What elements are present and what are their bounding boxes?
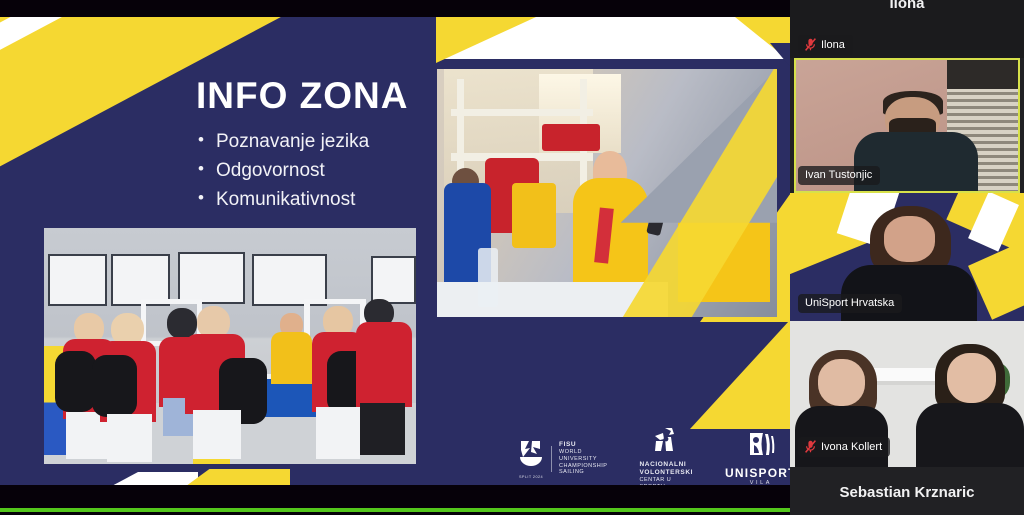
participant-namechip-ivona-kollert: Ivona Kollert [798, 437, 890, 457]
photo-athlete-red [356, 322, 412, 407]
slide-bullet-1: Poznavanje jezika [196, 128, 446, 157]
participant-name-ilona: Ilona [790, 0, 1024, 12]
fisu-mark-caption: SPLIT 2024 [518, 475, 544, 479]
participant-namechip-ilona: Ilona [798, 35, 853, 55]
photo-backpack [92, 355, 137, 416]
volunteer-centre-mark-icon [651, 427, 681, 458]
photo-merch-yellow [512, 183, 556, 247]
slide-bullet-3: Komunikativnost [196, 186, 446, 215]
fisu-line-4: CHAMPIONSHIP [559, 463, 607, 470]
person-head [818, 359, 865, 406]
photo-rack [141, 299, 201, 304]
person-head [947, 353, 996, 403]
share-letterbox-top [0, 0, 790, 17]
unisport-name: UNISPORT [725, 466, 790, 480]
fisu-mark-icon: SPLIT 2024 [518, 438, 544, 479]
photo-shorts [193, 410, 241, 460]
photo-water-bottle [478, 248, 498, 308]
fisu-line-3: UNIVERSITY [559, 456, 607, 463]
namechip-label: UniSport Hrvatska [805, 297, 894, 309]
logo-fisu: SPLIT 2024 FISU WORLD UNIVERSITY CHAMPIO… [518, 438, 607, 479]
unisport-wordmark: UNISPORT VILA [725, 466, 790, 485]
decor-bottom-left-white-triangle [78, 472, 198, 485]
decor-top-yellow-triangle [436, 17, 536, 63]
photo-rack [304, 299, 364, 304]
participant-name-sebastian-krznaric: Sebastian Krznaric [790, 484, 1024, 501]
participant-tile-ivan-tustonjic[interactable]: Ivan Tustonjic [790, 58, 1024, 193]
slide-photo-interview [437, 69, 777, 317]
slide-photo-desk [44, 228, 416, 464]
slide-bullet-list: Poznavanje jezika Odgovornost Komunikati… [196, 128, 446, 215]
photo-volunteer-yellow-1 [573, 178, 648, 297]
fisu-wordmark: FISU WORLD UNIVERSITY CHAMPIONSHIP SAILI… [559, 441, 607, 476]
decor-bottom-right-yellow-triangle [690, 309, 790, 429]
nvc-line-2: VOLONTERSKI [639, 469, 693, 477]
screen-share-indicator-bar [0, 508, 790, 512]
photo-shelf [451, 109, 594, 116]
participant-tile-sebastian-krznaric[interactable]: Sebastian Krznaric [790, 467, 1024, 515]
logo-unisport-vila: UNISPORT VILA [725, 431, 790, 485]
photo-merch-red [542, 124, 600, 151]
fisu-line-2: WORLD [559, 449, 607, 456]
participant-namechip-unisport-hrvatska: UniSport Hrvatska [798, 294, 902, 313]
logo-divider [551, 446, 552, 472]
photo-volunteer-seated [271, 332, 312, 384]
participant-tile-ilona[interactable]: Ilona Ilona [790, 0, 1024, 58]
photo-poster [371, 256, 416, 303]
photo-backpack [55, 351, 96, 412]
photo-shorts [107, 414, 152, 461]
person-torso [916, 403, 1024, 467]
fisu-line-1: FISU [559, 441, 607, 449]
participant-filmstrip[interactable]: Ilona Ilona [790, 0, 1024, 515]
decor-top-right-navy-triangle [770, 43, 790, 69]
nvc-line-1: NACIONALNI [639, 461, 693, 469]
namechip-label: Ivan Tustonjic [805, 169, 872, 181]
namechip-label: Ilona [821, 39, 845, 51]
slide-logo-row: SPLIT 2024 FISU WORLD UNIVERSITY CHAMPIO… [518, 427, 790, 485]
namechip-label: Ivona Kollert [821, 441, 882, 453]
volunteer-centre-wordmark: NACIONALNI VOLONTERSKI CENTAR U SPORTU [639, 461, 693, 485]
unisport-mark-icon [746, 431, 776, 462]
person-head [884, 216, 935, 262]
participant-tile-ivona-kollert[interactable]: Ivona Kollert [790, 321, 1024, 467]
mic-off-icon [805, 440, 816, 453]
photo-shorts [316, 407, 361, 459]
photo-poster [178, 252, 245, 304]
logo-nacionalni-volonterski-centar: NACIONALNI VOLONTERSKI CENTAR U SPORTU [639, 427, 693, 485]
fisu-line-5: SAILING [559, 469, 607, 476]
photo-shorts [360, 403, 405, 455]
slide-title: INFO ZONA [196, 77, 446, 116]
mic-off-icon [805, 38, 816, 51]
participant-tile-unisport-hrvatska[interactable]: UniSport Hrvatska [790, 193, 1024, 321]
video-call-window: INFO ZONA Poznavanje jezika Odgovornost … [0, 0, 1024, 515]
presentation-slide: INFO ZONA Poznavanje jezika Odgovornost … [0, 17, 790, 485]
screen-share-viewport[interactable]: INFO ZONA Poznavanje jezika Odgovornost … [0, 0, 790, 515]
video-window-frame [947, 60, 1018, 89]
slide-bullet-2: Odgovornost [196, 157, 446, 186]
slide-text-block: INFO ZONA Poznavanje jezika Odgovornost … [196, 77, 446, 214]
nvc-line-3: CENTAR U SPORTU [639, 477, 693, 485]
photo-poster [48, 254, 108, 306]
participant-namechip-ivan-tustonjic: Ivan Tustonjic [798, 166, 880, 185]
